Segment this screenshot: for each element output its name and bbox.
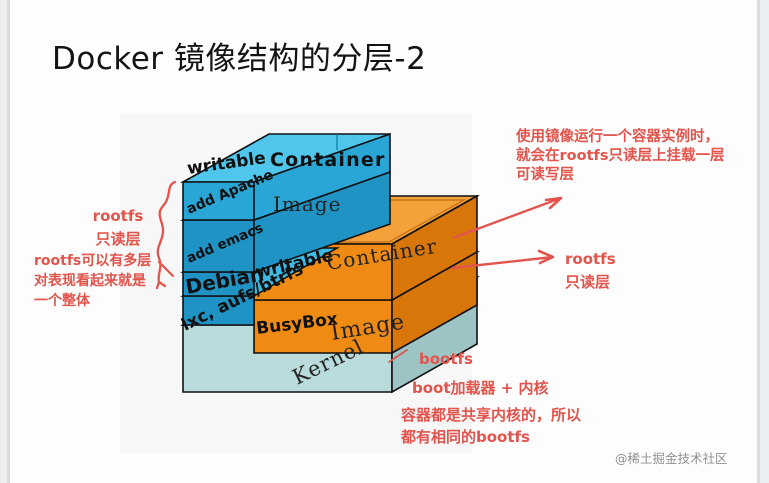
annotation-rootfs-right: rootfs 只读层 [565,248,616,293]
watermark: @稀土掘金技术社区 [615,448,728,467]
annotation-shared-kernel: 容器都是共享内核的，所以 都有相同的bootfs [401,405,631,449]
annotation-writable-mount: 使用镜像运行一个容器实例时， 就会在rootfs只读层上挂载一层 可读写层 [516,128,768,185]
slide-page: Docker 镜像结构的分层-2 [0,0,769,483]
svg-text:Container: Container [270,149,386,171]
annotation-bootfs: bootfs [419,350,473,370]
annotation-rootfs-multilayer: rootfs可以有多层 对表现看起来就是 一个整体 [34,252,186,312]
annotation-boot-loader: boot加载器 + 内核 [412,379,549,399]
svg-text:Image: Image [273,192,341,216]
annotation-rootfs-left: rootfs 只读层 [82,205,154,250]
